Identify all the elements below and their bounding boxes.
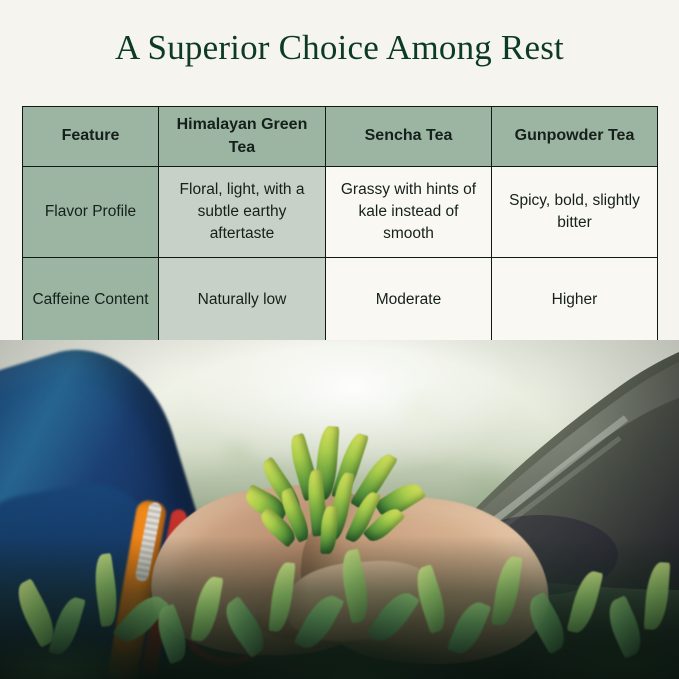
column-header-feature: Feature [23,107,159,167]
cell-gunpowder-caffeine-content: Higher [492,258,658,343]
infographic-page: A Superior Choice Among Rest Feature Him… [0,0,679,679]
tea-harvest-photo [0,340,679,679]
comparison-table-wrapper: Feature Himalayan Green Tea Sencha Tea G… [22,106,657,343]
column-header-sencha: Sencha Tea [326,107,492,167]
column-header-gunpowder: Gunpowder Tea [492,107,658,167]
cell-himalayan-flavor-profile: Floral, light, with a subtle earthy afte… [159,167,326,258]
cell-gunpowder-flavor-profile: Spicy, bold, slightly bitter [492,167,658,258]
cell-sencha-flavor-profile: Grassy with hints of kale instead of smo… [326,167,492,258]
table-row: Flavor Profile Floral, light, with a sub… [23,167,658,258]
cell-sencha-caffeine-content: Moderate [326,258,492,343]
table-header-row: Feature Himalayan Green Tea Sencha Tea G… [23,107,658,167]
table-row: Caffeine Content Naturally low Moderate … [23,258,658,343]
cell-himalayan-caffeine-content: Naturally low [159,258,326,343]
comparison-table: Feature Himalayan Green Tea Sencha Tea G… [22,106,658,343]
column-header-himalayan: Himalayan Green Tea [159,107,326,167]
photo-foreground-foliage [0,536,679,679]
page-title: A Superior Choice Among Rest [0,28,679,68]
cell-feature-flavor-profile: Flavor Profile [23,167,159,258]
cell-feature-caffeine-content: Caffeine Content [23,258,159,343]
